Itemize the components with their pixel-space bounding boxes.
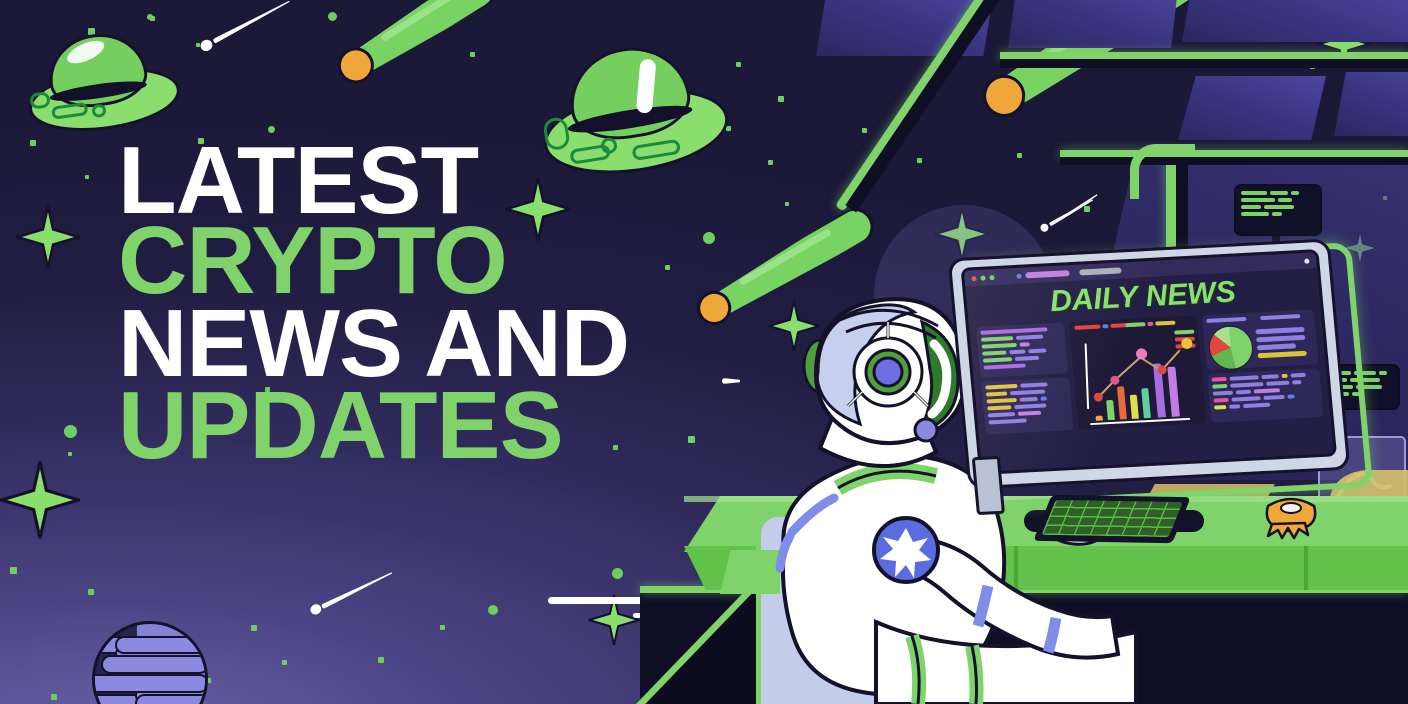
center-chart-panel[interactable] [1069,315,1207,429]
dashboard-grid [969,305,1331,441]
right-card-table[interactable] [1207,368,1323,423]
dashboard-left-column [976,322,1074,434]
chart-y-axis [1085,343,1090,409]
cockpit-window-pane [1182,0,1408,42]
window-close-dot[interactable] [971,275,976,280]
keyboard[interactable] [1033,495,1191,543]
left-card-top[interactable] [976,322,1069,377]
chart-data-point [1110,376,1120,385]
headline-line-4: UPDATES [118,383,629,469]
chart-bar [1130,395,1139,419]
window-minimize-dot[interactable] [980,275,985,280]
chart-bar [1095,415,1102,420]
dashboard-monitor[interactable]: DAILY NEWS [948,238,1351,489]
dashboard-right-column [1202,309,1324,422]
chart-data-point [1136,348,1148,360]
right-card-pie[interactable] [1202,309,1319,369]
chart-data-point [1157,365,1167,374]
cockpit-window-pane [1008,0,1178,48]
page-title: LATEST CRYPTO NEWS AND UPDATES [118,138,629,470]
chart-bar [1106,400,1115,420]
status-panel-top-right[interactable] [1234,184,1322,236]
monitor-screen: DAILY NEWS [961,249,1338,475]
chart-x-axis [1090,418,1190,425]
chart-data-point [1093,392,1103,401]
tab-title-pill[interactable] [1025,270,1070,278]
window-maximize-dot[interactable] [989,275,994,280]
left-card-bottom[interactable] [981,377,1074,434]
chart-bar [1117,386,1127,419]
hero-banner: LATEST CRYPTO NEWS AND UPDATES [0,0,1408,704]
pie-chart [1207,325,1253,369]
menu-dot[interactable] [1304,258,1309,263]
tab-favicon [1016,273,1021,278]
address-bar-pill[interactable] [1079,267,1122,275]
cockpit-window-pane [1334,72,1408,136]
chart-bar [1167,367,1180,417]
gold-coin-object [1260,488,1322,540]
chart-bar [1141,388,1151,418]
cockpit-window-pane [1178,76,1326,140]
monitor-stand [972,456,1005,515]
chart-legend-right [1125,321,1175,328]
